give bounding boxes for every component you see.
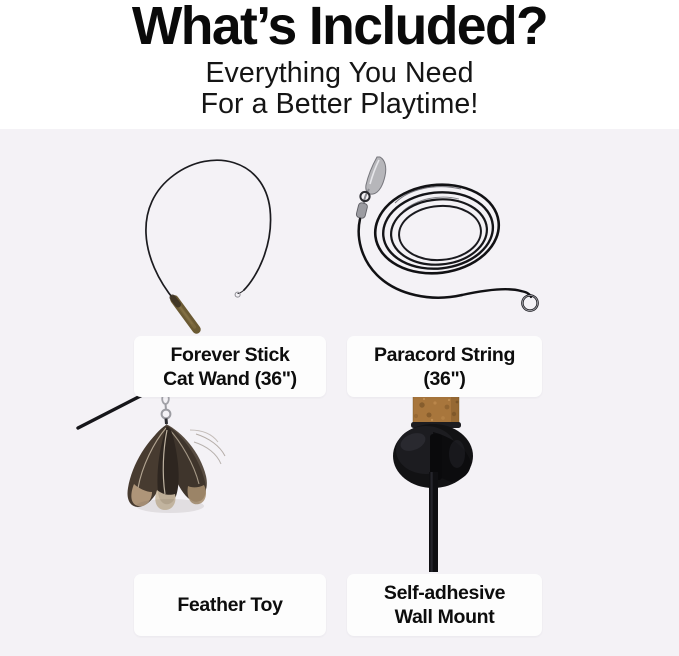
subtitle-line-2: For a Better Playtime! [0, 89, 679, 120]
label-line-2: Cat Wand (36") [163, 367, 297, 391]
item-label-card-paracord-string[interactable]: Paracord String (36") [347, 336, 542, 397]
header-band: What’s Included? Everything You Need For… [0, 0, 679, 129]
paracord-metal-clip [356, 157, 386, 219]
cat-wand-illustration [78, 133, 348, 333]
item-label-card-self-adhesive-wall-mount[interactable]: Self-adhesive Wall Mount [347, 574, 542, 636]
product-image-wall-mount [325, 372, 595, 572]
product-image-paracord-string [325, 133, 595, 333]
label-line-2: (36") [374, 367, 515, 391]
item-label-card-feather-toy[interactable]: Feather Toy [134, 574, 326, 636]
feather-toy-illustration [78, 372, 348, 572]
label-line-2: Wall Mount [384, 605, 505, 629]
subtitle-line-1: Everything You Need [0, 58, 679, 89]
paracord-illustration [325, 133, 595, 333]
wall-mount-illustration [325, 372, 595, 572]
items-grid [0, 129, 679, 656]
wand-handle [173, 298, 197, 330]
product-image-cat-wand [78, 133, 348, 333]
item-label-card-forever-stick-cat-wand[interactable]: Forever Stick Cat Wand (36") [134, 336, 326, 397]
item-label-text: Self-adhesive Wall Mount [384, 581, 505, 629]
page-subtitle: Everything You Need For a Better Playtim… [0, 58, 679, 120]
item-label-text: Paracord String (36") [374, 343, 515, 391]
mount-rod [429, 472, 438, 572]
feather-bundle [128, 424, 225, 513]
label-line-1: Feather Toy [177, 593, 282, 617]
page-title: What’s Included? [3, 0, 675, 55]
infographic-page: What’s Included? Everything You Need For… [0, 0, 679, 656]
product-image-feather-toy [78, 372, 348, 572]
label-line-1: Forever Stick [163, 343, 297, 367]
label-line-1: Paracord String [374, 343, 515, 367]
label-line-1: Self-adhesive [384, 581, 505, 605]
item-label-text: Feather Toy [177, 593, 282, 617]
item-label-text: Forever Stick Cat Wand (36") [163, 343, 297, 391]
